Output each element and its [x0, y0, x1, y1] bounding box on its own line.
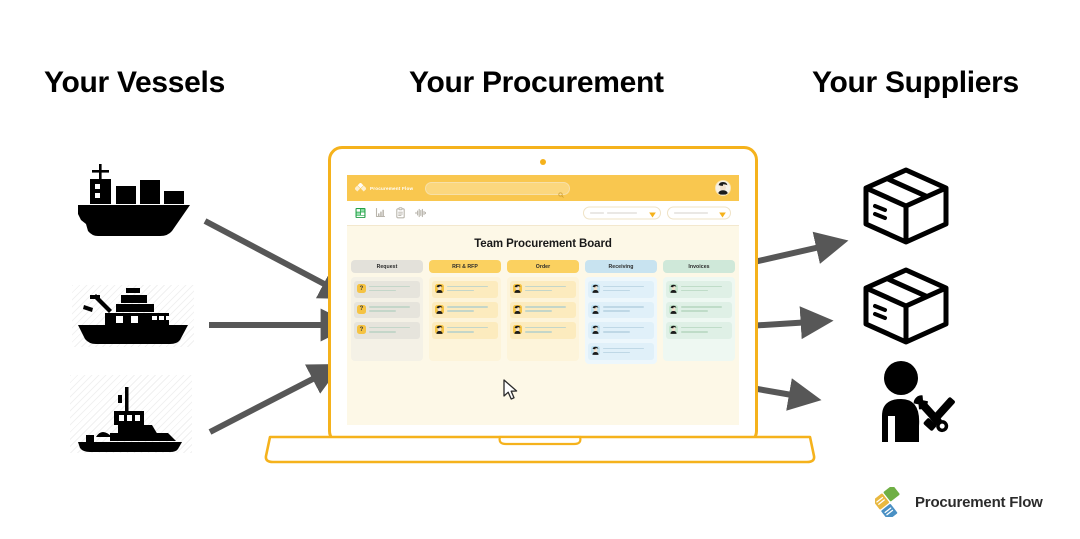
card-avatar-badge	[591, 325, 600, 334]
app-toolbar	[347, 201, 739, 226]
card-line	[681, 310, 708, 312]
card-avatar-badge	[435, 305, 444, 314]
clipboard-icon[interactable]	[395, 207, 406, 219]
card-line	[681, 327, 722, 329]
card-placeholder-lines	[447, 305, 495, 315]
board-card[interactable]	[432, 322, 498, 339]
card-line	[603, 310, 630, 312]
card-avatar-badge	[669, 325, 678, 334]
procurement-flow-logo-icon	[875, 487, 907, 517]
filter-select[interactable]	[583, 207, 661, 220]
card-line	[603, 331, 630, 333]
fishing-research-vessel-icon	[72, 285, 194, 347]
board-column: Receiving	[585, 260, 657, 364]
card-line	[603, 306, 644, 308]
audio-waveform-icon[interactable]	[415, 207, 426, 219]
board-column: Invoices	[663, 260, 735, 364]
app-logo[interactable]: Procurement Flow	[355, 183, 413, 194]
column-body	[585, 277, 657, 364]
card-placeholder-lines	[681, 284, 729, 294]
card-line	[525, 306, 566, 308]
card-line	[369, 286, 410, 288]
board-card[interactable]: ?	[354, 302, 420, 319]
card-question-badge: ?	[357, 305, 366, 314]
column-header[interactable]: Request	[351, 260, 423, 273]
chevron-down-icon	[719, 204, 726, 222]
card-avatar-badge	[435, 284, 444, 293]
select-placeholder-dash	[607, 212, 637, 214]
laptop-mockup: Procurement Flow	[262, 146, 818, 466]
diagram-canvas: Your Vessels Your Procurement Your Suppl…	[0, 0, 1080, 539]
card-avatar-badge	[435, 325, 444, 334]
column-body: ???	[351, 277, 423, 361]
card-avatar-badge	[513, 284, 522, 293]
card-avatar-badge	[591, 346, 600, 355]
search-input[interactable]	[425, 182, 570, 195]
board-title: Team Procurement Board	[347, 226, 739, 260]
column-body	[663, 277, 735, 361]
board-card[interactable]	[588, 322, 654, 339]
card-placeholder-lines	[369, 305, 417, 315]
card-line	[369, 331, 396, 333]
board-card[interactable]	[510, 281, 576, 298]
card-placeholder-lines	[603, 284, 651, 294]
card-placeholder-lines	[525, 284, 573, 294]
select-placeholder-dash	[674, 212, 708, 214]
card-placeholder-lines	[525, 325, 573, 335]
container-cargo-ship-icon	[72, 158, 194, 238]
column-header[interactable]: Order	[507, 260, 579, 273]
board-card[interactable]	[510, 322, 576, 339]
board-column: Request???	[351, 260, 423, 364]
card-line	[369, 290, 396, 292]
package-box-icon	[858, 162, 954, 250]
app-topbar: Procurement Flow	[347, 175, 739, 201]
webcam-dot	[540, 159, 546, 165]
card-question-badge: ?	[357, 325, 366, 334]
board-card[interactable]	[510, 302, 576, 319]
brand-name: Procurement Flow	[915, 494, 1043, 511]
card-placeholder-lines	[369, 284, 417, 294]
mouse-cursor-icon	[503, 379, 519, 401]
card-line	[525, 310, 552, 312]
heading-your-procurement: Your Procurement	[409, 66, 664, 100]
board-column: RFI & RFP	[429, 260, 501, 364]
card-line	[603, 327, 644, 329]
card-placeholder-lines	[681, 325, 729, 335]
column-body	[507, 277, 579, 361]
app-screen: Procurement Flow	[347, 175, 739, 425]
card-line	[603, 290, 630, 292]
sort-select[interactable]	[667, 207, 731, 220]
card-line	[681, 306, 722, 308]
card-line	[369, 327, 410, 329]
card-avatar-badge	[669, 284, 678, 293]
card-placeholder-lines	[603, 305, 651, 315]
card-question-badge: ?	[357, 284, 366, 293]
card-line	[681, 331, 708, 333]
board-card[interactable]	[588, 343, 654, 360]
tugboat-icon	[70, 375, 192, 453]
avatar[interactable]	[715, 180, 731, 196]
chevron-down-icon	[649, 204, 656, 222]
card-line	[447, 310, 474, 312]
select-placeholder-dash	[590, 212, 604, 214]
card-line	[369, 306, 410, 308]
card-line	[681, 290, 708, 292]
board-card[interactable]	[432, 302, 498, 319]
card-line	[369, 310, 396, 312]
app-logo-text: Procurement Flow	[370, 186, 413, 191]
board-card[interactable]: ?	[354, 322, 420, 339]
card-line	[603, 352, 630, 354]
board-card[interactable]: ?	[354, 281, 420, 298]
card-placeholder-lines	[525, 305, 573, 315]
board-card[interactable]	[432, 281, 498, 298]
card-placeholder-lines	[369, 325, 417, 335]
card-placeholder-lines	[447, 325, 495, 335]
board-card[interactable]	[588, 302, 654, 319]
card-placeholder-lines	[681, 305, 729, 315]
card-placeholder-lines	[603, 325, 651, 335]
card-line	[447, 286, 488, 288]
toolbar-selects	[583, 207, 731, 220]
card-line	[525, 286, 566, 288]
spreadsheet-grid-icon[interactable]	[355, 207, 366, 219]
card-line	[525, 290, 552, 292]
card-line	[525, 327, 566, 329]
card-line	[603, 286, 644, 288]
column-header[interactable]: RFI & RFP	[429, 260, 501, 273]
package-box-icon	[858, 262, 954, 350]
column-header[interactable]: Receiving	[585, 260, 657, 273]
card-avatar-badge	[513, 305, 522, 314]
bar-chart-icon[interactable]	[375, 207, 386, 219]
board-card[interactable]	[588, 281, 654, 298]
card-avatar-badge	[591, 305, 600, 314]
card-line	[447, 331, 474, 333]
column-body	[429, 277, 501, 361]
board-card[interactable]	[666, 302, 732, 319]
laptop-base	[262, 434, 818, 464]
card-placeholder-lines	[447, 284, 495, 294]
diamond-logo-icon	[355, 183, 366, 194]
card-line	[447, 290, 474, 292]
card-line	[447, 327, 488, 329]
card-line	[603, 348, 644, 350]
column-header[interactable]: Invoices	[663, 260, 735, 273]
kanban-board: Request???RFI & RFPOrderReceivingInvoice…	[347, 260, 739, 364]
heading-your-suppliers: Your Suppliers	[812, 66, 1019, 100]
search-icon	[558, 185, 564, 191]
service-technician-icon	[868, 358, 962, 448]
card-avatar-badge	[591, 284, 600, 293]
card-line	[525, 331, 552, 333]
heading-your-vessels: Your Vessels	[44, 66, 225, 100]
card-avatar-badge	[513, 325, 522, 334]
card-line	[447, 306, 488, 308]
board-card[interactable]	[666, 322, 732, 339]
card-placeholder-lines	[603, 346, 651, 356]
brand-footer: Procurement Flow	[875, 487, 1043, 517]
board-column: Order	[507, 260, 579, 364]
card-line	[681, 286, 722, 288]
board-card[interactable]	[666, 281, 732, 298]
laptop-lid: Procurement Flow	[328, 146, 758, 445]
card-avatar-badge	[669, 305, 678, 314]
